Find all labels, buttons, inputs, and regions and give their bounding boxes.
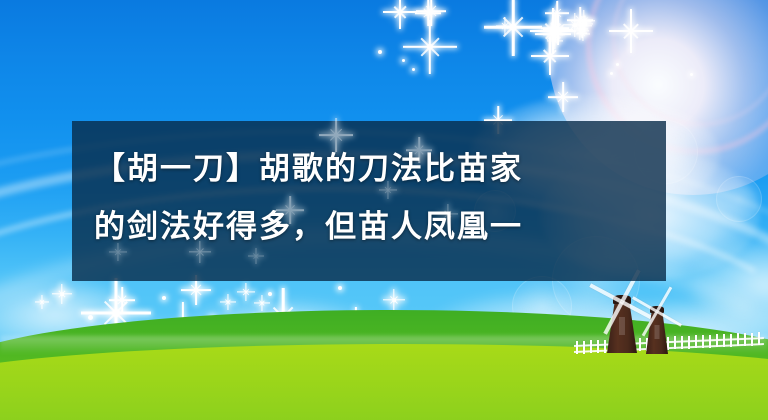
sparkle-dot (162, 296, 166, 300)
sparkle-dot (412, 68, 415, 71)
sparkle-dot (690, 73, 693, 76)
sparkle-dot (610, 72, 613, 75)
screenshot-canvas: 【胡一刀】胡歌的刀法比苗家 的剑法好得多，但苗人凤凰一 (0, 0, 768, 420)
windmill-door (655, 325, 660, 339)
windmill-small (636, 300, 678, 354)
sparkle-dot (616, 63, 619, 66)
sparkle-dot (402, 59, 405, 62)
hill-foreground (0, 344, 768, 420)
windmill-door (619, 317, 625, 335)
sparkle-dot (268, 292, 272, 296)
caption-line-2: 的剑法好得多，但苗人凤凰一 (94, 198, 666, 256)
sparkle-dot (338, 286, 342, 290)
sparkle-dot (88, 315, 93, 320)
sparkle-dot (378, 50, 382, 54)
caption-line-1: 【胡一刀】胡歌的刀法比苗家 (94, 140, 666, 198)
caption-overlay: 【胡一刀】胡歌的刀法比苗家 的剑法好得多，但苗人凤凰一 (72, 121, 666, 281)
